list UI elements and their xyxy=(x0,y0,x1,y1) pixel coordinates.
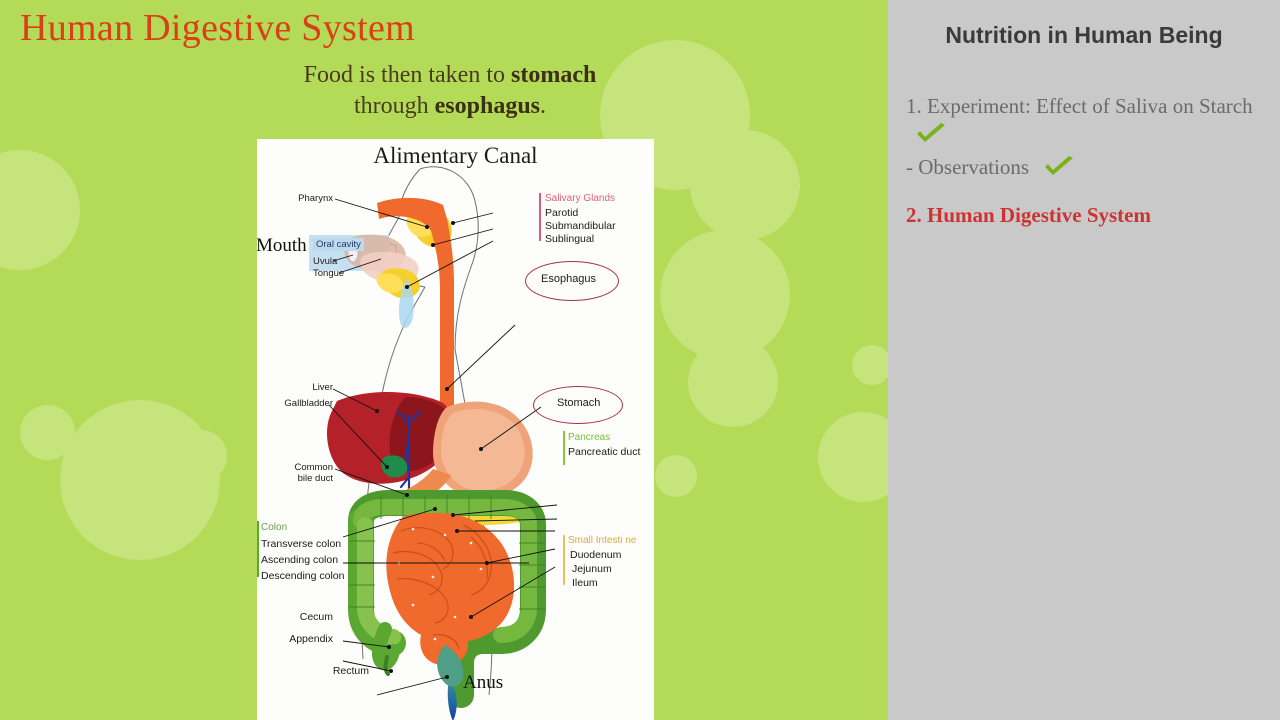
label-cecum: Cecum xyxy=(273,611,333,623)
topic-sidebar: Nutrition in Human Being 1. Experiment: … xyxy=(888,0,1280,720)
label-uvula: Uvula xyxy=(313,256,337,267)
label-submandibular: Submandibular xyxy=(545,220,616,232)
decor-bubble xyxy=(690,130,800,240)
label-gallbladder: Gallbladder xyxy=(257,398,333,409)
decor-bubble xyxy=(20,405,75,460)
label-pharynx: Pharynx xyxy=(275,193,333,204)
label-jejunum: Jejunum xyxy=(572,563,612,575)
label-pancreatic-duct: Pancreatic duct xyxy=(568,446,640,458)
decor-bubble xyxy=(688,337,778,427)
label-rectum: Rectum xyxy=(307,665,369,677)
label-liver: Liver xyxy=(277,382,333,393)
label-sublingual: Sublingual xyxy=(545,233,594,245)
label-transverse-colon: Transverse colon xyxy=(261,538,341,550)
topic-item-digestive-system[interactable]: 2. Human Digestive System xyxy=(906,201,1262,229)
decor-bubble xyxy=(818,412,888,502)
colon-bracket xyxy=(257,521,259,577)
subtitle-line-1: Food is then taken to stomach xyxy=(304,62,597,88)
page-title: Human Digestive System xyxy=(20,6,415,50)
small-intestine-bracket xyxy=(563,535,565,585)
label-tongue: Tongue xyxy=(313,268,344,279)
annotation-mouth: Mouth xyxy=(257,235,307,257)
label-appendix: Appendix xyxy=(267,633,333,645)
label-stomach: Stomach xyxy=(557,397,600,410)
label-ileum: Ileum xyxy=(572,577,598,589)
label-common-bile-duct: Commonbile duct xyxy=(267,462,333,484)
topic-item-label: - Observations xyxy=(906,155,1029,179)
slide-root: Human Digestive System Food is then take… xyxy=(0,0,1280,720)
label-esophagus: Esophagus xyxy=(541,273,596,286)
annotation-anus: Anus xyxy=(463,672,503,694)
topic-item-label: 1. Experiment: Effect of Saliva on Starc… xyxy=(906,94,1253,118)
subtitle-text: Food is then taken to stomach through es… xyxy=(250,60,650,121)
decor-bubble xyxy=(175,430,227,482)
label-parotid: Parotid xyxy=(545,207,578,219)
digestive-system-diagram: Alimentary Canal xyxy=(257,139,654,720)
topic-item-observations[interactable]: - Observations xyxy=(906,153,1262,181)
decor-bubble xyxy=(852,345,888,385)
check-icon xyxy=(914,123,948,145)
check-icon xyxy=(1042,156,1076,178)
topic-item-label: 2. Human Digestive System xyxy=(906,203,1151,227)
label-small-intestine: Small Intesti ne xyxy=(568,535,636,547)
topic-item-experiment[interactable]: 1. Experiment: Effect of Saliva on Starc… xyxy=(906,92,1262,149)
label-descending-colon: Descending colon xyxy=(261,570,344,582)
content-panel: Human Digestive System Food is then take… xyxy=(0,0,888,720)
decor-bubble xyxy=(0,150,80,270)
label-pancreas: Pancreas xyxy=(568,432,610,444)
label-ascending-colon: Ascending colon xyxy=(261,554,338,566)
label-colon: Colon xyxy=(261,522,287,534)
label-duodenum: Duodenum xyxy=(570,549,621,561)
subtitle-line-2: through esophagus. xyxy=(354,93,546,119)
salivary-glands-bracket xyxy=(539,193,541,241)
sidebar-title: Nutrition in Human Being xyxy=(888,22,1280,49)
topic-list: 1. Experiment: Effect of Saliva on Starc… xyxy=(906,92,1262,233)
pancreas-bracket xyxy=(563,431,565,465)
label-oral-cavity: Oral cavity xyxy=(313,238,364,251)
decor-bubble xyxy=(655,455,697,497)
label-salivary-glands: Salivary Glands xyxy=(545,193,615,205)
